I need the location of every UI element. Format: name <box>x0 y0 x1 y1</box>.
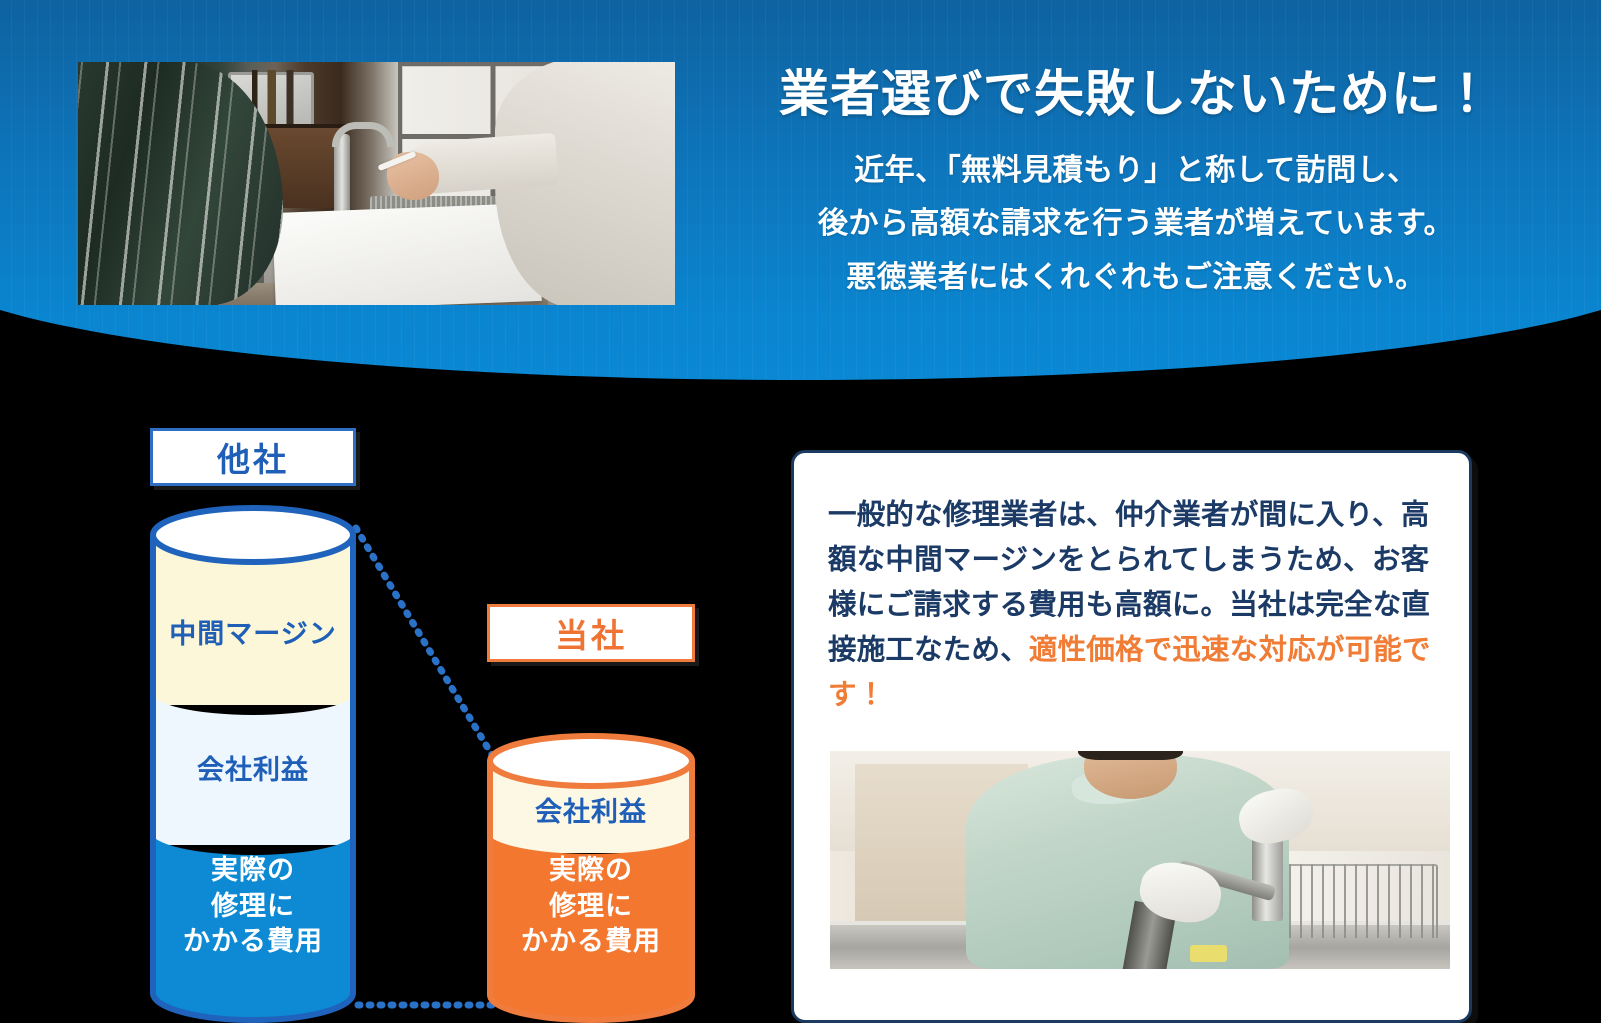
dish-rack <box>1276 864 1437 938</box>
header-subtext-line-3: 悪徳業者にはくれぐれもご注意ください。 <box>712 251 1560 304</box>
cylinder-top-ellipse <box>153 508 353 562</box>
cylinder-top-ellipse-ours <box>490 736 692 786</box>
worker-hair <box>1078 751 1183 760</box>
cylinder-our-company: 会社利益 実際の修理にかかる費用 <box>487 733 695 1023</box>
connector-line-top <box>356 528 492 755</box>
consultation-photo <box>78 62 675 305</box>
segment-profit-fill <box>150 691 356 845</box>
sponge <box>1190 945 1227 962</box>
header-headline: 業者選びで失敗しないために！ <box>712 66 1560 122</box>
cylinder-other-company: 中間マージン 会社利益 実際の修理にかかる費用 <box>150 505 356 1023</box>
header-subtext-line-1: 近年、「無料見積もり」と称して訪問し、 <box>712 144 1560 197</box>
cylinder-our-svg <box>487 733 695 1023</box>
header-banner: 業者選びで失敗しないために！ 近年、「無料見積もり」と称して訪問し、 後から高額… <box>0 0 1601 380</box>
repair-photo <box>830 751 1450 969</box>
cylinder-other-svg <box>150 505 356 1023</box>
chip-other-company: 他社 <box>150 428 356 486</box>
segment-actual-fill <box>150 831 356 1023</box>
segment-actual-fill-ours <box>487 831 695 1023</box>
page-root: 業者選びで失敗しないために！ 近年、「無料見積もり」と称して訪問し、 後から高額… <box>0 0 1601 1023</box>
header-content: 業者選びで失敗しないために！ 近年、「無料見積もり」と称して訪問し、 後から高額… <box>0 0 1601 380</box>
header-subtext-line-2: 後から高額な請求を行う業者が増えています。 <box>712 197 1560 250</box>
kitchen-faucet <box>334 134 350 220</box>
chip-our-company: 当社 <box>487 604 695 662</box>
info-card: 一般的な修理業者は、仲介業者が間に入り、高額な中間マージンをとられてしまうため、… <box>791 450 1472 1023</box>
info-card-text: 一般的な修理業者は、仲介業者が間に入り、高額な中間マージンをとられてしまうため、… <box>828 493 1437 718</box>
header-subtext: 近年、「無料見積もり」と称して訪問し、 後から高額な請求を行う業者が増えています… <box>712 144 1560 304</box>
